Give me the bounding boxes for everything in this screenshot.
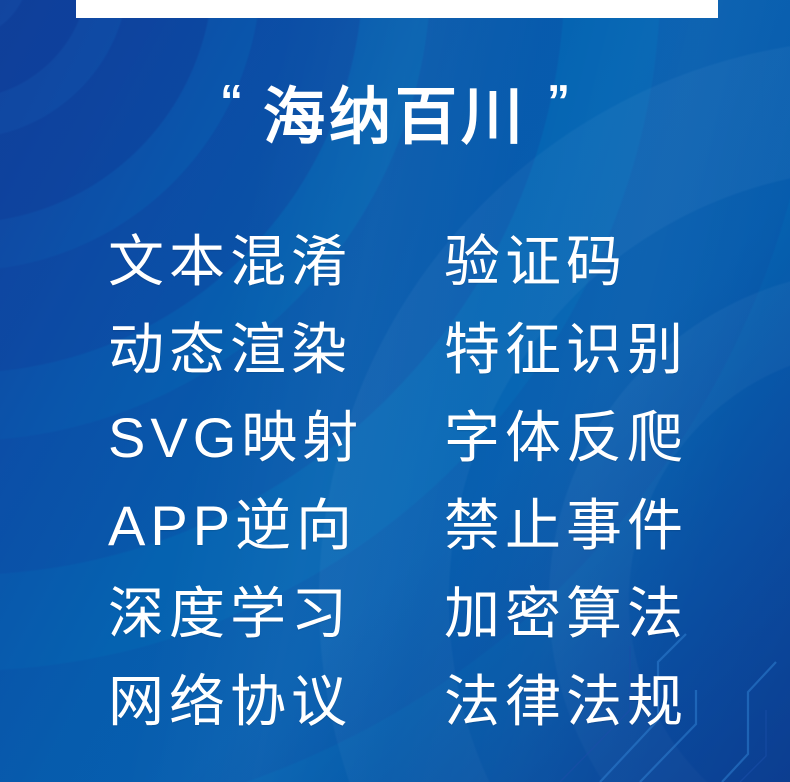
list-item: SVG映射 字体反爬 bbox=[108, 394, 708, 482]
keyword-left-3: SVG映射 bbox=[108, 410, 444, 466]
keyword-right-2: 特征识别 bbox=[444, 322, 708, 378]
list-item: 网络协议 法律法规 bbox=[108, 658, 708, 746]
page-title: 海纳百川 bbox=[263, 87, 527, 149]
keyword-left-5: 深度学习 bbox=[108, 586, 444, 642]
keyword-right-6: 法律法规 bbox=[444, 674, 708, 730]
list-item: APP逆向 禁止事件 bbox=[108, 482, 708, 570]
list-item: 深度学习 加密算法 bbox=[108, 570, 708, 658]
title-block: “ 海纳百川 ” bbox=[0, 72, 790, 164]
open-quote-mark: “ bbox=[220, 78, 243, 124]
keyword-left-2: 动态渲染 bbox=[108, 322, 444, 378]
list-item: 动态渲染 特征识别 bbox=[108, 306, 708, 394]
keyword-left-6: 网络协议 bbox=[108, 674, 444, 730]
keyword-left-4: APP逆向 bbox=[108, 498, 444, 554]
keyword-right-5: 加密算法 bbox=[444, 586, 708, 642]
keyword-right-4: 禁止事件 bbox=[444, 498, 708, 554]
top-white-bar bbox=[76, 0, 718, 18]
keyword-list: 文本混淆 验证码 动态渲染 特征识别 SVG映射 字体反爬 APP逆向 禁止事件… bbox=[108, 218, 708, 746]
close-quote-mark: ” bbox=[547, 78, 570, 124]
poster-canvas: “ 海纳百川 ” 文本混淆 验证码 动态渲染 特征识别 SVG映射 字体反爬 A… bbox=[0, 0, 790, 782]
list-item: 文本混淆 验证码 bbox=[108, 218, 708, 306]
keyword-right-1: 验证码 bbox=[444, 234, 708, 290]
keyword-right-3: 字体反爬 bbox=[444, 410, 708, 466]
keyword-left-1: 文本混淆 bbox=[108, 234, 444, 290]
